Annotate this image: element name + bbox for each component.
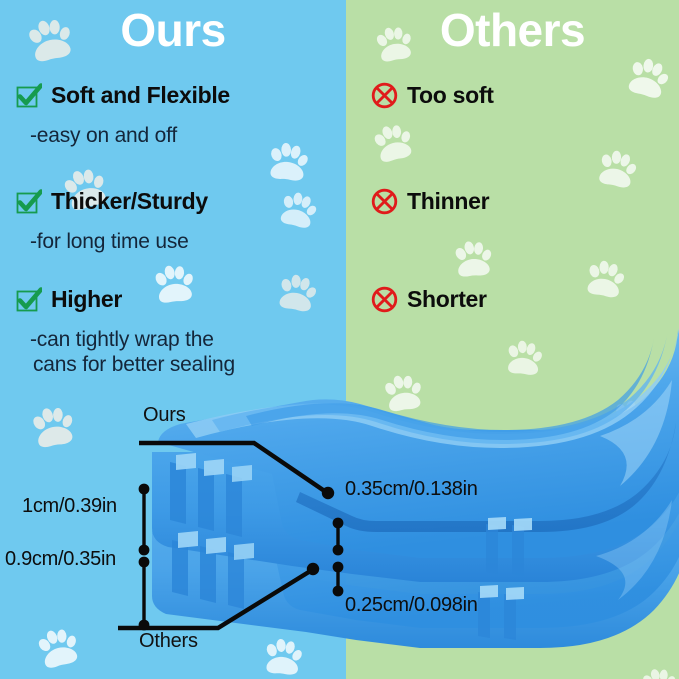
feature-sub-soft-flexible: -easy on and off — [30, 124, 177, 149]
comparison-infographic: Ours Others Soft and Flexible -easy on a… — [0, 0, 679, 679]
feature-row-higher: Higher — [16, 286, 122, 313]
measure-height-others: 0.9cm/0.35in — [5, 548, 116, 571]
checkbox-checked-icon — [16, 287, 42, 313]
page-title-others: Others — [346, 4, 679, 57]
callout-label-others: Others — [139, 630, 198, 653]
feature-row-thinner: Thinner — [371, 188, 489, 215]
feature-sub-higher-line2: cans for better sealing — [33, 353, 235, 378]
feature-label: Higher — [51, 286, 122, 313]
checkbox-checked-icon — [16, 83, 42, 109]
checkbox-checked-icon — [16, 189, 42, 215]
feature-label: Soft and Flexible — [51, 82, 230, 109]
circle-x-icon — [371, 286, 398, 313]
feature-label: Thicker/Sturdy — [51, 188, 208, 215]
measure-height-ours: 1cm/0.39in — [22, 495, 117, 518]
circle-x-icon — [371, 188, 398, 215]
feature-label: Too soft — [407, 82, 494, 109]
feature-row-too-soft: Too soft — [371, 82, 494, 109]
feature-label: Shorter — [407, 286, 487, 313]
page-title-ours: Ours — [0, 4, 346, 57]
feature-label: Thinner — [407, 188, 489, 215]
measure-thickness-others: 0.25cm/0.098in — [345, 594, 478, 617]
feature-row-shorter: Shorter — [371, 286, 487, 313]
measure-thickness-ours: 0.35cm/0.138in — [345, 478, 478, 501]
feature-row-thicker-sturdy: Thicker/Sturdy — [16, 188, 208, 215]
feature-sub-thicker-sturdy: -for long time use — [30, 230, 189, 255]
feature-row-soft-flexible: Soft and Flexible — [16, 82, 230, 109]
feature-sub-higher-line1: -can tightly wrap the — [30, 328, 214, 353]
callout-label-ours: Ours — [143, 404, 186, 427]
circle-x-icon — [371, 82, 398, 109]
